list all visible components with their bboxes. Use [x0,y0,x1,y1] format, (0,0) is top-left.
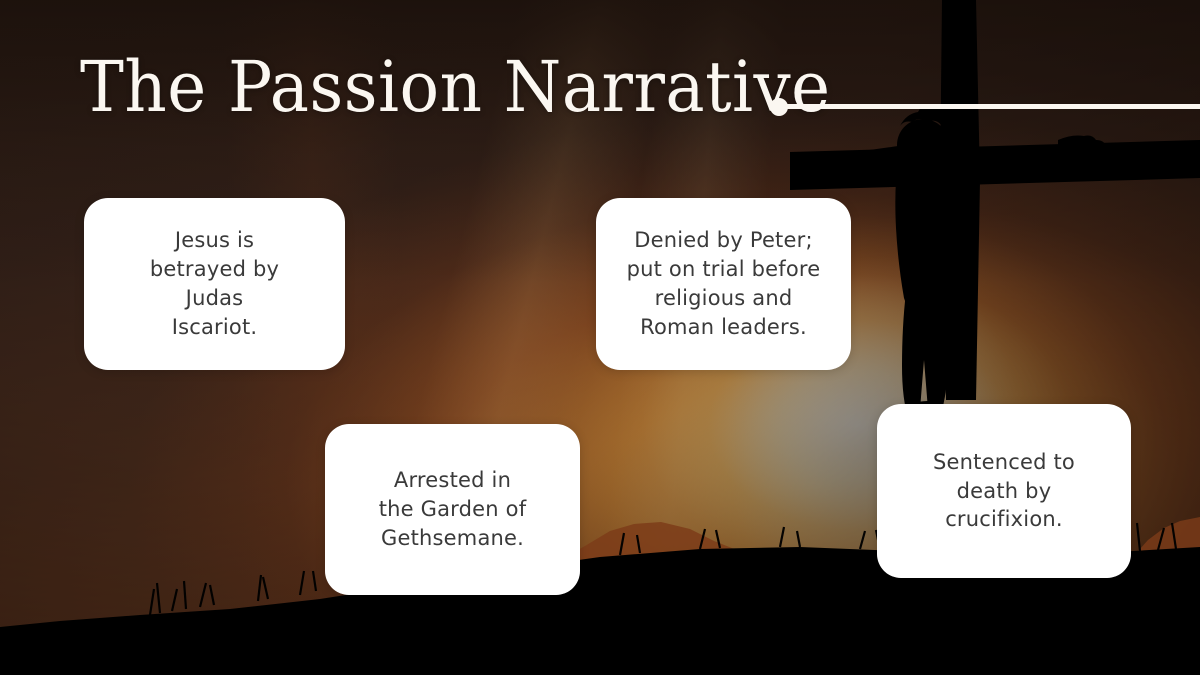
card-text: Arrested in the Garden of Gethsemane. [379,466,527,553]
slide-title: The Passion Narrative [80,52,831,122]
sentencing-card[interactable]: Sentenced to death by crucifixion. [877,404,1131,578]
card-text: Jesus is betrayed by Judas Iscariot. [150,226,279,342]
title-decorative-rule [770,97,1200,117]
card-text: Sentenced to death by crucifixion. [933,448,1075,535]
accent-line-icon [779,104,1200,109]
crucifixion-silhouette-icon [790,0,1200,430]
betrayal-card[interactable]: Jesus is betrayed by Judas Iscariot. [84,198,345,370]
arrest-card[interactable]: Arrested in the Garden of Gethsemane. [325,424,580,595]
denial-trial-card[interactable]: Denied by Peter; put on trial before rel… [596,198,851,370]
presentation-slide: The Passion Narrative Jesus is betrayed … [0,0,1200,675]
card-text: Denied by Peter; put on trial before rel… [627,226,821,342]
